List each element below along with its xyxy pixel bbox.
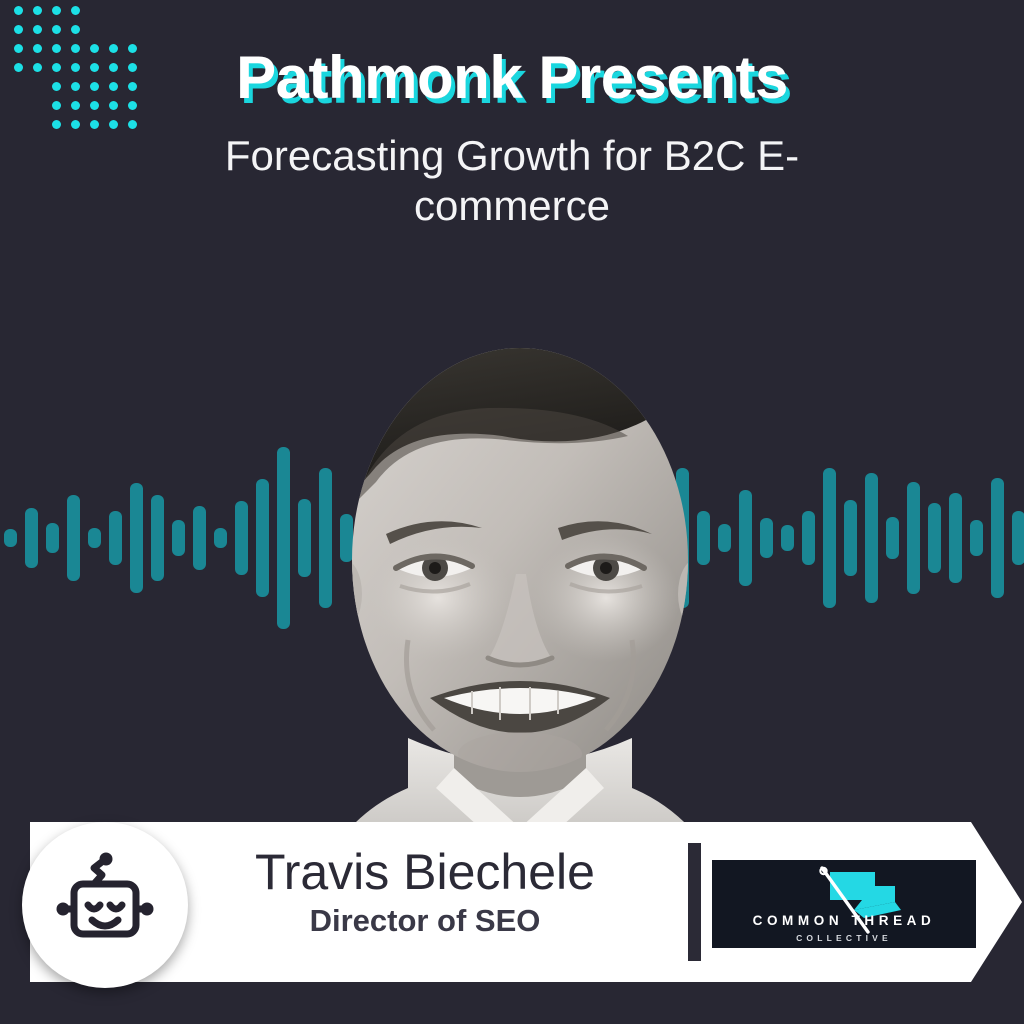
grid-dot xyxy=(52,6,61,15)
waveform-bar xyxy=(865,473,878,603)
grid-dot xyxy=(109,120,118,129)
grid-dot xyxy=(14,63,23,72)
grid-dot xyxy=(52,120,61,129)
grid-dot xyxy=(128,63,137,72)
grid-dot xyxy=(52,63,61,72)
grid-dot xyxy=(52,44,61,53)
grid-dot xyxy=(109,82,118,91)
grid-dot xyxy=(71,25,80,34)
grid-dot xyxy=(14,6,23,15)
grid-dot xyxy=(109,101,118,110)
grid-dot xyxy=(128,120,137,129)
grid-dot xyxy=(33,25,42,34)
robot-avatar-icon xyxy=(50,850,160,960)
grid-dot xyxy=(71,101,80,110)
waveform-bar xyxy=(193,506,206,570)
dot-grid-icon xyxy=(14,6,144,134)
grid-dot xyxy=(71,6,80,15)
grid-dot xyxy=(33,44,42,53)
waveform-bar xyxy=(67,495,80,581)
waveform-bar xyxy=(1012,511,1024,565)
logo-primary-text: COMMON THREAD xyxy=(753,913,936,928)
grid-dot xyxy=(90,120,99,129)
page-title: Pathmonk Presents xyxy=(0,0,1024,109)
grid-dot xyxy=(33,6,42,15)
common-thread-collective-logo-icon: COMMON THREAD COLLECTIVE xyxy=(712,860,976,948)
waveform-bar xyxy=(802,511,815,565)
waveform-bar xyxy=(214,528,227,548)
speaker-photo-image xyxy=(258,268,778,888)
waveform-bar xyxy=(172,520,185,556)
episode-subtitle: Forecasting Growth for B2C E-commerce xyxy=(162,109,862,230)
grid-dot xyxy=(128,82,137,91)
waveform-bar xyxy=(823,468,836,608)
grid-dot xyxy=(71,44,80,53)
grid-dot xyxy=(71,82,80,91)
waveform-bar xyxy=(886,517,899,559)
waveform-bar xyxy=(781,525,794,551)
grid-dot xyxy=(109,44,118,53)
grid-dot xyxy=(128,44,137,53)
brand-logo: COMMON THREAD COLLECTIVE xyxy=(712,860,976,948)
grid-dot xyxy=(52,82,61,91)
waveform-bar xyxy=(88,528,101,548)
waveform-bar xyxy=(991,478,1004,598)
grid-dot xyxy=(109,63,118,72)
waveform-bar xyxy=(46,523,59,553)
grid-dot xyxy=(14,44,23,53)
waveform-bar xyxy=(907,482,920,594)
grid-dot xyxy=(52,25,61,34)
grid-dot xyxy=(71,120,80,129)
grid-dot xyxy=(14,25,23,34)
waveform-bar xyxy=(130,483,143,593)
waveform-bar xyxy=(151,495,164,581)
waveform-bar xyxy=(949,493,962,583)
grid-dot xyxy=(90,101,99,110)
grid-dot xyxy=(33,63,42,72)
grid-dot xyxy=(52,101,61,110)
avatar xyxy=(22,822,188,988)
grid-dot xyxy=(90,63,99,72)
grid-dot xyxy=(128,101,137,110)
title-block: Pathmonk Presents Forecasting Growth for… xyxy=(0,0,1024,230)
grid-dot xyxy=(90,82,99,91)
grid-dot xyxy=(90,44,99,53)
waveform-bar xyxy=(928,503,941,573)
waveform-bar xyxy=(25,508,38,568)
waveform-bar xyxy=(235,501,248,575)
waveform-bar xyxy=(844,500,857,576)
logo-secondary-text: COLLECTIVE xyxy=(796,933,892,943)
vertical-divider xyxy=(688,843,701,961)
podcast-promo-card: Pathmonk Presents Forecasting Growth for… xyxy=(0,0,1024,1024)
waveform-bar xyxy=(4,529,17,547)
waveform-bar xyxy=(109,511,122,565)
speaker-photo xyxy=(258,268,778,888)
grid-dot xyxy=(71,63,80,72)
waveform-bar xyxy=(970,520,983,556)
